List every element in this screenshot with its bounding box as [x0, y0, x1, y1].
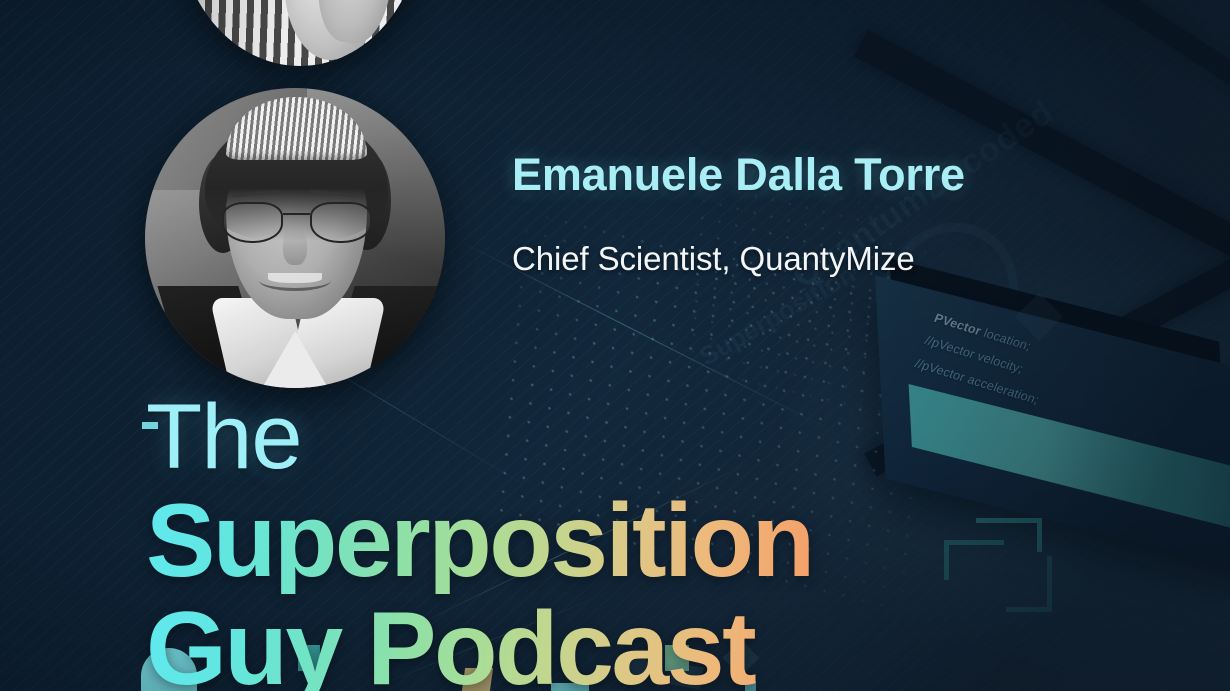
avatar-secondary: [178, 0, 422, 66]
show-title: The Superposition Guy Podcast: [146, 392, 813, 691]
portrait-secondary-shading: [178, 0, 422, 66]
title-line-1: The: [146, 392, 813, 482]
chevron-band-top: [988, 0, 1230, 92]
speaker-role: Chief Scientist, QuantyMize: [512, 240, 915, 278]
smile: [259, 270, 331, 291]
slide-canvas: QuantumDecoded Superposition PVector loc…: [0, 0, 1230, 691]
portrait-secondary-art: [178, 0, 422, 66]
avatar-speaker: [145, 88, 445, 388]
glasses-lens-left: [222, 202, 284, 243]
title-line-3: Guy Podcast: [146, 596, 813, 691]
corner-bracket-right: [976, 518, 1042, 552]
glasses-lens-right: [310, 202, 372, 243]
glasses-bridge: [283, 213, 310, 215]
speaker-name: Emanuele Dalla Torre: [512, 149, 965, 201]
title-line-2: Superposition: [146, 488, 813, 594]
nose: [283, 229, 307, 265]
corner-bracket-bottom: [1006, 556, 1052, 612]
portrait-speaker-art: [145, 88, 445, 388]
